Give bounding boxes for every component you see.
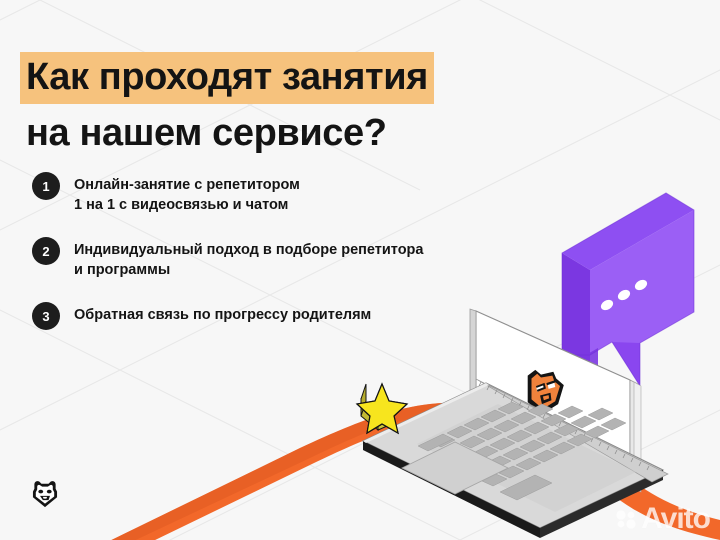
bear-head-logo [28,476,62,510]
page-title: Как проходят занятия на нашем сервисе? [24,52,584,156]
list-item-line-2: и программы [74,260,423,280]
list-item-text: Индивидуальный подход в подборе репетито… [74,237,423,280]
avito-watermark-text: Avito [641,504,710,534]
list-item-badge: 2 [32,237,60,265]
list-item-line-2: 1 на 1 с видеосвязью и чатом [74,195,300,215]
avito-dots-icon [615,508,637,530]
list-item-line-1: Индивидуальный подход в подборе репетито… [74,242,423,258]
list-item-line-1: Обратная связь по прогрессу родителям [74,307,371,323]
list-item-text: Онлайн-занятие с репетитором 1 на 1 с ви… [74,172,300,215]
list-item-badge: 1 [32,172,60,200]
avito-watermark: Avito [615,504,710,534]
page-title-line-2: на нашем сервисе? [24,110,584,156]
list-item-badge: 3 [32,302,60,330]
list-item: 3 Обратная связь по прогрессу родителям [32,302,502,330]
list-item-line-1: Онлайн-занятие с репетитором [74,177,300,193]
list-item-text: Обратная связь по прогрессу родителям [74,302,371,325]
poster-canvas: Как проходят занятия на нашем сервисе? 1… [0,0,720,540]
page-title-line-1: Как проходят занятия [20,52,434,104]
list-item: 1 Онлайн-занятие с репетитором 1 на 1 с … [32,172,502,215]
list-item: 2 Индивидуальный подход в подборе репети… [32,237,502,280]
feature-list: 1 Онлайн-занятие с репетитором 1 на 1 с … [32,172,502,352]
